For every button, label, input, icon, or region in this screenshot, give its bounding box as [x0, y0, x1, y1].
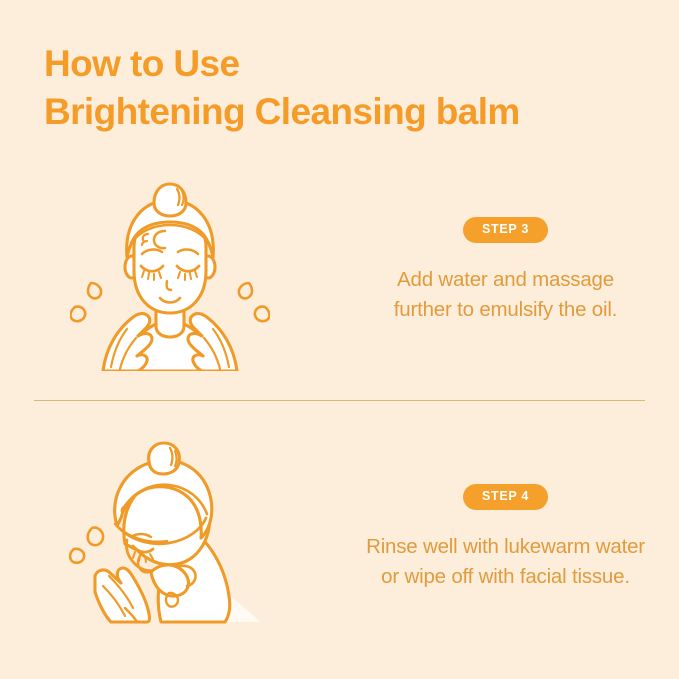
step-3-description: Add water and massage further to emulsif… [394, 265, 617, 325]
step-row-4: STEP 4 Rinse well with lukewarm water or… [0, 420, 679, 656]
status-badge-step-4: STEP 4 [463, 484, 548, 510]
step-3-text-container: STEP 3 Add water and massage further to … [340, 217, 679, 324]
step-4-illustration-container [0, 436, 340, 641]
woman-massaging-face-icon [70, 171, 270, 371]
page-title-line-2: Brightening Cleansing balm [44, 88, 644, 136]
step-3-description-line-1: Add water and massage [394, 265, 617, 295]
step-4-description-line-2: or wipe off with facial tissue. [366, 562, 645, 592]
step-row-3: STEP 3 Add water and massage further to … [0, 160, 679, 382]
page-title-line-1: How to Use [44, 40, 644, 88]
step-4-description: Rinse well with lukewarm water or wipe o… [366, 532, 645, 592]
step-4-description-line-1: Rinse well with lukewarm water [366, 532, 645, 562]
step-3-illustration-container [0, 171, 340, 371]
page-title: How to Use Brightening Cleansing balm [44, 40, 644, 136]
how-to-use-infographic: How to Use Brightening Cleansing balm [0, 0, 679, 679]
status-badge-step-3: STEP 3 [463, 217, 548, 243]
step-4-text-container: STEP 4 Rinse well with lukewarm water or… [340, 484, 679, 591]
step-3-description-line-2: further to emulsify the oil. [394, 295, 617, 325]
woman-rinsing-face-icon [65, 436, 275, 641]
section-divider [34, 400, 645, 401]
